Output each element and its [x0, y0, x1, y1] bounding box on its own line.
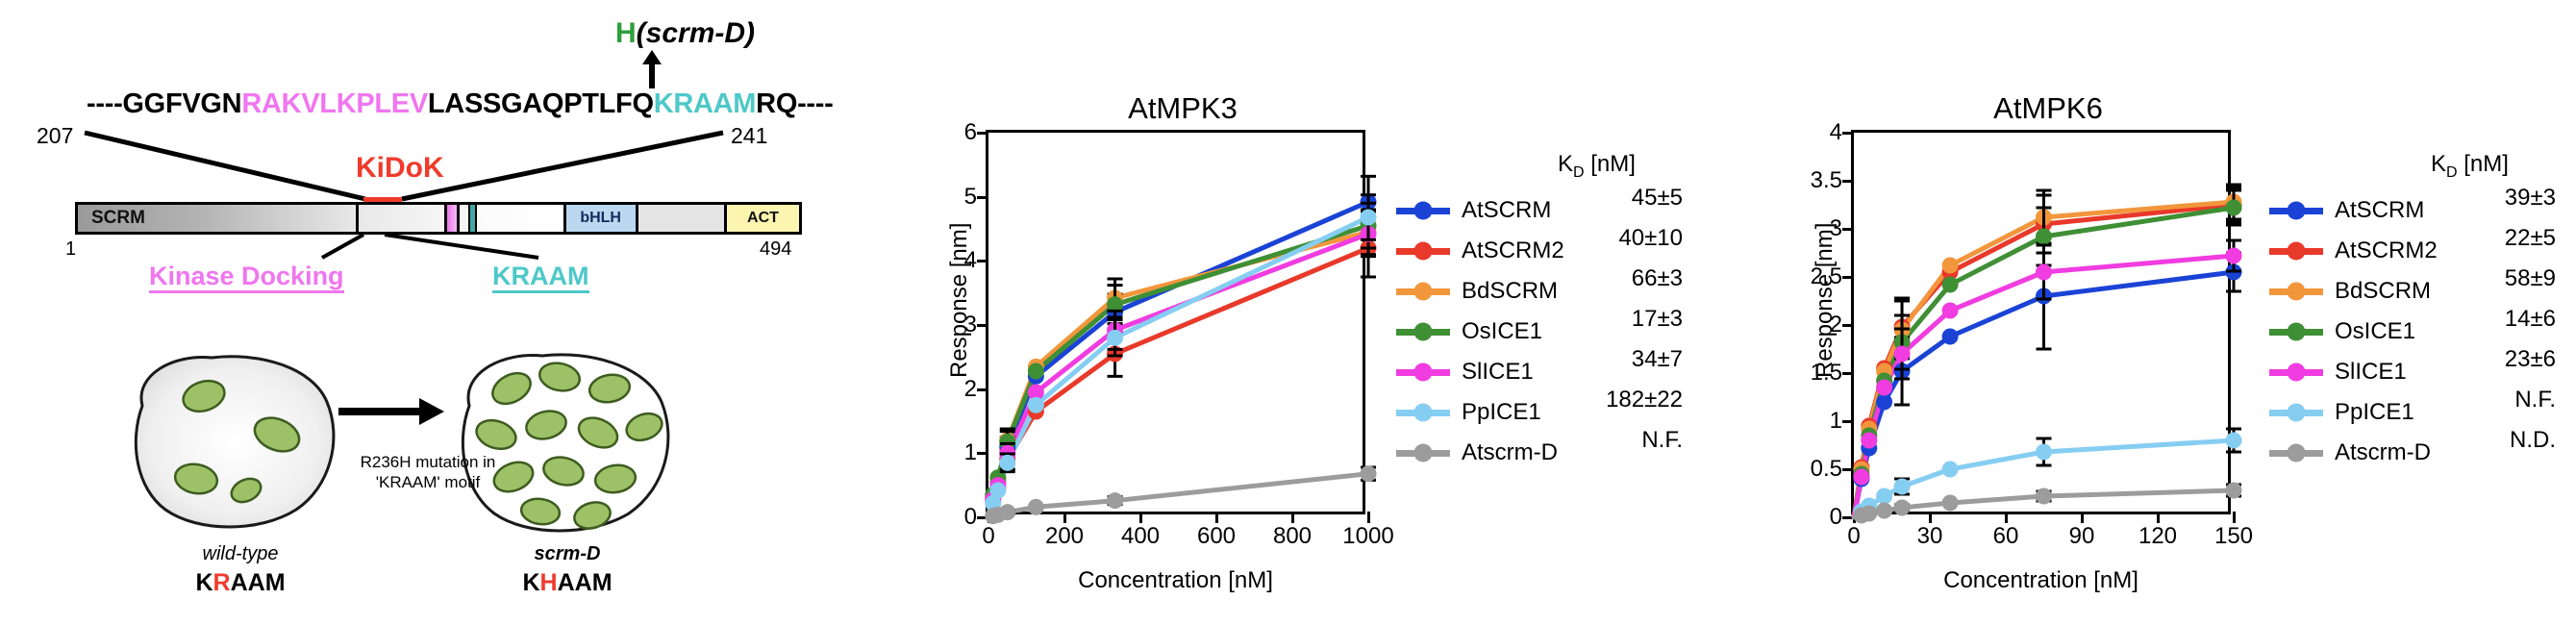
transition-arrow-icon	[338, 392, 444, 431]
legend-label: AtSCRM2	[1462, 237, 1564, 264]
y-axis-tick-label: 1	[1830, 408, 1842, 435]
data-point	[1876, 380, 1892, 396]
seq-kidok: RAKVLKPLEV	[241, 88, 428, 119]
kd-value: 17±3	[1558, 306, 1683, 333]
y-axis-tick-label: 4	[1830, 119, 1842, 146]
domain-scrm-label: SCRM	[91, 208, 145, 229]
data-point	[1028, 397, 1044, 413]
x-axis-label: Concentration [nM]	[1851, 567, 2231, 594]
sequence-start-number: 207	[37, 123, 73, 149]
legend-label: AtSCRM2	[2335, 237, 2438, 264]
legend-item[interactable]: OsICE1	[2269, 318, 2415, 345]
data-point	[1028, 499, 1044, 515]
legend-swatch	[1396, 288, 1450, 295]
kd-value: 22±5	[2431, 225, 2556, 252]
domain-linker-3	[638, 205, 724, 232]
y-axis-tick-label: 0.5	[1811, 456, 1842, 483]
y-axis-tick-mark	[1842, 276, 1854, 279]
mutation-caption-line2: 'KRAAM' motif	[376, 473, 481, 491]
legend-item[interactable]: SlICE1	[1396, 359, 1534, 386]
kd-value: 66±3	[1558, 265, 1683, 292]
mutation-caption-line1: R236H mutation in	[361, 453, 496, 471]
domain-linker-1	[359, 205, 444, 232]
data-point	[1107, 330, 1123, 346]
legend-marker-icon	[2288, 242, 2306, 261]
mutation-callout: H(scrm-D)	[615, 17, 755, 50]
kd-subscript: D	[2446, 164, 2458, 181]
kd-symbol: K	[1558, 151, 1573, 177]
kd-value: N.D.	[2431, 427, 2556, 454]
kd-unit: [nM]	[2458, 151, 2509, 177]
x-axis-tick-label: 90	[2069, 523, 2095, 550]
legend-item[interactable]: Atscrm-D	[1396, 439, 1558, 466]
legend-item[interactable]: AtSCRM2	[2269, 237, 2438, 264]
kd-column-header: KD [nM]	[2431, 151, 2509, 182]
series-line	[988, 232, 1368, 517]
schematic-panel: H(scrm-D) ----GGFVGNRAKVLKPLEVLASSGAQPTL…	[0, 0, 827, 625]
domain-bhlh: bHLH	[563, 205, 638, 232]
legend-marker-icon	[2288, 202, 2306, 220]
data-point	[1894, 479, 1911, 495]
data-point	[1876, 488, 1892, 505]
legend-marker-icon	[2288, 444, 2306, 462]
x-axis-label: Concentration [nM]	[986, 567, 1365, 594]
data-point	[1894, 500, 1911, 516]
x-axis-tick-label: 120	[2138, 523, 2177, 550]
legend-marker-icon	[1414, 404, 1433, 422]
legend-label: BdSCRM	[1462, 278, 1558, 305]
legend-label: OsICE1	[2335, 318, 2415, 345]
mutation-caption: R236H mutation in 'KRAAM' motif	[341, 452, 514, 493]
kd-value: 23±6	[2431, 346, 2556, 373]
domain-gap	[460, 205, 468, 232]
data-point	[1028, 363, 1044, 380]
data-point	[1942, 258, 1959, 274]
legend-marker-icon	[1414, 242, 1433, 261]
legend-marker-icon	[2288, 363, 2306, 382]
legend-item[interactable]: OsICE1	[1396, 318, 1542, 345]
legend-label: SlICE1	[1462, 359, 1534, 386]
data-point	[999, 455, 1015, 471]
kd-value: N.F.	[1558, 427, 1683, 454]
x-axis-tick-label: 600	[1197, 523, 1236, 550]
kd-value: 58±9	[2431, 265, 2556, 292]
data-point	[1107, 492, 1123, 509]
y-axis-tick-mark	[1842, 468, 1854, 471]
legend-label: PpICE1	[2335, 399, 2414, 426]
kd-unit: [nM]	[1585, 151, 1636, 177]
data-point	[989, 483, 1006, 499]
data-point	[2226, 433, 2242, 449]
wildtype-motif: KRAAM	[154, 569, 327, 597]
chart-title: AtMPK3	[971, 91, 1394, 126]
domain-bar: SCRM bHLH ACT	[75, 202, 802, 235]
chart-title: AtMPK6	[1837, 91, 2260, 126]
y-axis-tick-mark	[977, 196, 988, 199]
kraam-label: KRAAM	[492, 262, 589, 291]
scrmd-caption: scrm-D	[481, 543, 654, 565]
data-point	[1876, 394, 1892, 411]
y-axis-label: Response [nm]	[1812, 223, 1838, 378]
legend-item[interactable]: SlICE1	[2269, 359, 2407, 386]
data-point	[999, 504, 1015, 520]
mutation-allele: (scrm-D)	[637, 17, 755, 49]
data-point	[1361, 465, 1377, 482]
legend-marker-icon	[1414, 444, 1433, 462]
legend-swatch	[1396, 248, 1450, 255]
legend-item[interactable]: BdSCRM	[2269, 278, 2431, 305]
domain-start-number: 1	[65, 238, 76, 261]
data-point	[1861, 506, 1877, 522]
x-axis-tick-label: 200	[1045, 523, 1084, 550]
legend-item[interactable]: Atscrm-D	[2269, 439, 2431, 466]
legend-swatch	[2269, 248, 2323, 255]
data-point	[2036, 488, 2052, 505]
legend-swatch	[1396, 208, 1450, 214]
sequence-end-number: 241	[731, 123, 767, 149]
wildtype-cell-illustration	[115, 346, 356, 538]
series-plot	[988, 133, 1368, 517]
x-axis-tick-label: 1000	[1342, 523, 1393, 550]
legend-item[interactable]: PpICE1	[2269, 399, 2414, 426]
domain-kraam-stripe	[468, 205, 477, 232]
data-point	[1853, 469, 1869, 486]
legend-label: Atscrm-D	[1462, 439, 1558, 466]
data-point	[2036, 229, 2052, 245]
legend-swatch	[2269, 369, 2323, 376]
legend-item[interactable]: AtSCRM	[1396, 197, 1551, 224]
kd-symbol: K	[2431, 151, 2446, 177]
legend-marker-icon	[1414, 202, 1433, 220]
legend-item[interactable]: PpICE1	[1396, 399, 1541, 426]
data-point	[1876, 503, 1892, 519]
legend-marker-icon	[1414, 323, 1433, 341]
legend-label: PpICE1	[1462, 399, 1541, 426]
kd-value: 39±3	[2431, 185, 2556, 212]
data-point	[1942, 329, 1959, 345]
data-point	[1894, 346, 1911, 362]
legend-marker-icon	[2288, 404, 2306, 422]
kidok-label: KiDoK	[356, 152, 444, 185]
y-axis-tick-label: 5	[964, 184, 977, 211]
y-axis-tick-label: 1	[964, 439, 977, 466]
y-axis-tick-mark	[977, 452, 988, 455]
legend-swatch	[1396, 410, 1450, 416]
data-point	[1361, 210, 1377, 226]
legend-marker-icon	[2288, 323, 2306, 341]
domain-bhlh-label: bHLH	[580, 210, 621, 227]
legend-item[interactable]: AtSCRM2	[1396, 237, 1564, 264]
kinase-docking-label: Kinase Docking	[149, 262, 344, 291]
series-line	[988, 234, 1368, 517]
x-axis-tick-label: 800	[1273, 523, 1312, 550]
chart-atmpk3: AtMPK3012345602004006008001000Response […	[827, 0, 1692, 625]
seq-suffix: RQ----	[756, 88, 833, 119]
legend-marker-icon	[2288, 283, 2306, 301]
legend-swatch	[1396, 329, 1450, 336]
data-point	[2226, 483, 2242, 499]
legend-swatch	[2269, 410, 2323, 416]
data-point	[1942, 495, 1959, 512]
y-axis-tick-mark	[1842, 372, 1854, 375]
legend-label: OsICE1	[1462, 318, 1542, 345]
kd-column-header: KD [nM]	[1558, 151, 1636, 182]
kd-value: 34±7	[1558, 346, 1683, 373]
domain-end-number: 494	[760, 238, 791, 261]
legend-swatch	[1396, 369, 1450, 376]
legend-swatch	[1396, 450, 1450, 457]
y-axis-tick-mark	[1842, 420, 1854, 423]
legend-item[interactable]: BdSCRM	[1396, 278, 1558, 305]
legend-label: Atscrm-D	[2335, 439, 2431, 466]
legend-swatch	[2269, 208, 2323, 214]
y-axis-tick-mark	[1842, 132, 1854, 135]
domain-linker-2	[477, 205, 563, 232]
mutation-residue: H	[615, 17, 637, 49]
domain-act-label: ACT	[747, 210, 779, 227]
kd-value: 45±5	[1558, 185, 1683, 212]
scrmd-cell-illustration	[440, 342, 692, 542]
protein-sequence: ----GGFVGNRAKVLKPLEVLASSGAQPTLFQKRAAMRQ-…	[87, 88, 834, 120]
kd-value: N.F.	[2431, 387, 2556, 413]
y-axis-tick-mark	[977, 388, 988, 391]
seq-mid: LASSGAQPTLFQ	[428, 88, 654, 119]
kd-subscript: D	[1573, 164, 1585, 181]
legend-swatch	[2269, 450, 2323, 457]
y-axis-tick-label: 6	[964, 119, 977, 146]
x-axis-tick-label: 60	[1993, 523, 2019, 550]
x-axis-tick-label: 30	[1917, 523, 1943, 550]
data-point	[1942, 277, 1959, 293]
legend-label: BdSCRM	[2335, 278, 2431, 305]
kd-value: 14±6	[2431, 306, 2556, 333]
legend-item[interactable]: AtSCRM	[2269, 197, 2424, 224]
legend-label: AtSCRM	[2335, 197, 2424, 224]
chart-atmpk6: AtMPK600.511.522.533.540306090120150Resp…	[1692, 0, 2576, 625]
mutation-arrow-icon	[641, 50, 663, 88]
data-point	[1942, 462, 1959, 478]
x-axis-tick-label: 0	[982, 523, 994, 550]
y-axis-tick-mark	[977, 132, 988, 135]
legend-marker-icon	[1414, 363, 1433, 382]
domain-act: ACT	[724, 205, 799, 232]
kd-value: 182±22	[1558, 387, 1683, 413]
data-point	[2036, 444, 2052, 461]
scrmd-motif: KHAAM	[481, 569, 654, 597]
domain-scrm: SCRM	[78, 205, 359, 232]
y-axis-tick-mark	[977, 260, 988, 262]
y-axis-tick-label: 3.5	[1811, 167, 1842, 194]
y-axis-tick-label: 0	[964, 504, 977, 531]
legend-label: AtSCRM	[1462, 197, 1551, 224]
plot-area: 00.511.522.533.540306090120150Response […	[1851, 130, 2231, 514]
y-axis-label: Response [nm]	[946, 223, 973, 378]
data-point	[2036, 264, 2052, 281]
legend-label: SlICE1	[2335, 359, 2407, 386]
x-axis-tick-label: 0	[1847, 523, 1860, 550]
data-point	[1942, 303, 1959, 319]
series-plot	[1854, 133, 2234, 517]
plot-area: 012345602004006008001000Response [nm]	[986, 130, 1365, 514]
kd-value: 40±10	[1558, 225, 1683, 252]
x-axis-tick-label: 400	[1121, 523, 1160, 550]
series-line	[988, 474, 1368, 517]
seq-kraam: KRAAM	[654, 88, 756, 119]
wildtype-caption: wild-type	[154, 543, 327, 565]
y-axis-tick-mark	[1842, 228, 1854, 231]
y-axis-tick-mark	[1842, 180, 1854, 183]
data-point	[2226, 248, 2242, 264]
y-axis-tick-label: 2	[964, 376, 977, 403]
legend-swatch	[2269, 288, 2323, 295]
data-point	[2226, 200, 2242, 216]
y-axis-tick-mark	[977, 324, 988, 327]
y-axis-tick-label: 0	[1830, 504, 1842, 531]
y-axis-tick-mark	[1842, 324, 1854, 327]
seq-prefix: ----GGFVGN	[87, 88, 241, 119]
data-point	[1861, 433, 1877, 449]
legend-marker-icon	[1414, 283, 1433, 301]
x-axis-tick-label: 150	[2214, 523, 2253, 550]
legend-swatch	[2269, 329, 2323, 336]
domain-kidok-stripe	[444, 205, 460, 232]
